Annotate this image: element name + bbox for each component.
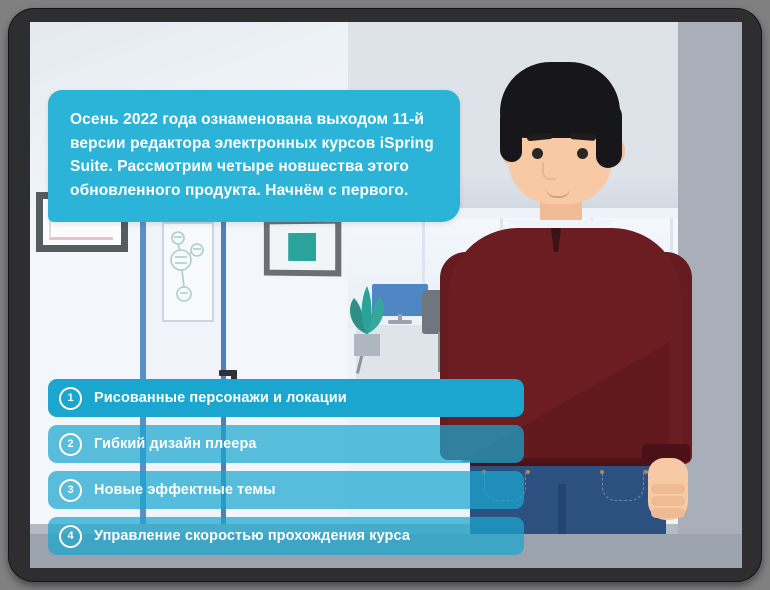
list-item-label: Рисованные персонажи и локации	[94, 390, 347, 406]
finger	[651, 508, 685, 518]
hand	[648, 458, 688, 520]
list-item-number: 3	[59, 479, 82, 502]
list-item-label: Управление скоростью прохождения курса	[94, 528, 410, 544]
list-item-number: 1	[59, 387, 82, 410]
jeans-rivet	[526, 470, 530, 474]
feature-list: 1 Рисованные персонажи и локации 2 Гибки…	[48, 379, 524, 563]
list-item[interactable]: 1 Рисованные персонажи и локации	[48, 379, 524, 417]
jeans-rivet	[600, 470, 604, 474]
nose	[542, 162, 556, 180]
list-item-label: Новые эффектные темы	[94, 482, 276, 498]
list-item-number: 4	[59, 525, 82, 548]
list-item-label: Гибкий дизайн плеера	[94, 436, 257, 452]
finger	[651, 496, 685, 506]
jeans-pocket-right	[602, 470, 644, 501]
list-item[interactable]: 3 Новые эффектные темы	[48, 471, 524, 509]
eye-right	[577, 148, 588, 159]
hair	[500, 62, 620, 138]
slide-canvas: Осень 2022 года ознаменована выходом 11-…	[30, 22, 742, 568]
list-item[interactable]: 2 Гибкий дизайн плеера	[48, 425, 524, 463]
speech-bubble: Осень 2022 года ознаменована выходом 11-…	[48, 90, 460, 222]
tablet-device-frame: Осень 2022 года ознаменована выходом 11-…	[8, 8, 762, 582]
list-item-number: 2	[59, 433, 82, 456]
jeans-center-seam	[558, 484, 566, 534]
eye-left	[532, 148, 543, 159]
list-item[interactable]: 4 Управление скоростью прохождения курса	[48, 517, 524, 555]
finger	[651, 484, 685, 494]
